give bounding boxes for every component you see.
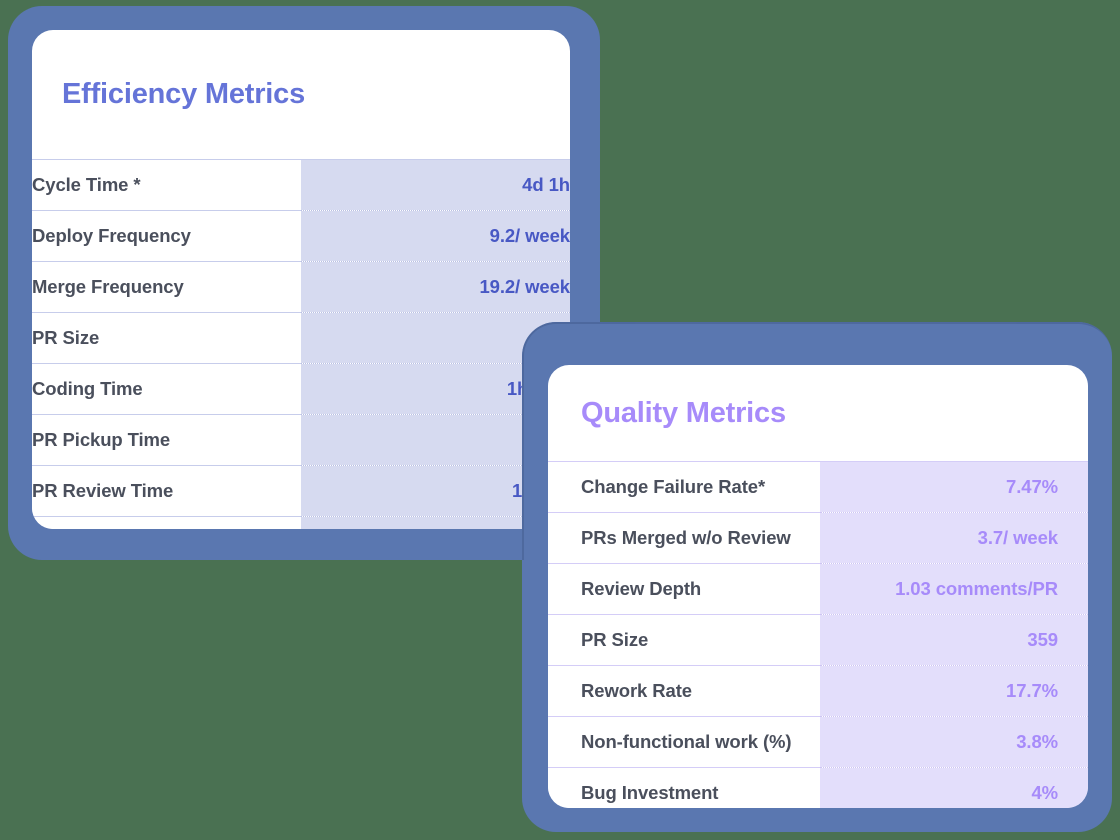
quality-card-title: Quality Metrics (581, 397, 786, 430)
metric-label: Coding Time (32, 364, 301, 415)
table-row[interactable]: Deploy Time 23h (32, 517, 570, 530)
table-row[interactable]: Cycle Time * 4d 1h (32, 160, 570, 211)
table-row[interactable]: Coding Time 1h 36m (32, 364, 570, 415)
quality-metrics-card: Quality Metrics Change Failure Rate* 7.4… (548, 365, 1088, 808)
metric-value: 17.7% (820, 666, 1088, 717)
metric-value: 3.8% (820, 717, 1088, 768)
metric-value: 3.7/ week (820, 513, 1088, 564)
metric-label: Deploy Time (32, 517, 301, 530)
table-row[interactable]: Merge Frequency 19.2/ week (32, 262, 570, 313)
metric-value: 19.2/ week (301, 262, 570, 313)
metric-label: Deploy Frequency (32, 211, 301, 262)
quality-metrics-table: Change Failure Rate* 7.47% PRs Merged w/… (548, 461, 1088, 808)
metric-value: 4% (820, 768, 1088, 809)
metric-label: PR Pickup Time (32, 415, 301, 466)
table-row[interactable]: Deploy Frequency 9.2/ week (32, 211, 570, 262)
efficiency-metrics-table: Cycle Time * 4d 1h Deploy Frequency 9.2/… (32, 159, 570, 529)
table-row[interactable]: Review Depth 1.03 comments/PR (548, 564, 1088, 615)
table-row[interactable]: PR Pickup Time 2d 5h (32, 415, 570, 466)
table-row[interactable]: Change Failure Rate* 7.47% (548, 462, 1088, 513)
metrics-dashboard: Efficiency Metrics Cycle Time * 4d 1h De… (0, 0, 1120, 840)
metric-value: 4d 1h (301, 160, 570, 211)
metric-value: 7.47% (820, 462, 1088, 513)
metric-label: PR Size (548, 615, 820, 666)
table-row[interactable]: Non-functional work (%) 3.8% (548, 717, 1088, 768)
metric-value: 9.2/ week (301, 211, 570, 262)
table-row[interactable]: PR Size 359 (32, 313, 570, 364)
metric-label: Rework Rate (548, 666, 820, 717)
metric-label: Merge Frequency (32, 262, 301, 313)
metric-label: Non-functional work (%) (548, 717, 820, 768)
metric-label: Review Depth (548, 564, 820, 615)
metric-label: PR Review Time (32, 466, 301, 517)
table-row[interactable]: PRs Merged w/o Review 3.7/ week (548, 513, 1088, 564)
metric-label: Bug Investment (548, 768, 820, 809)
metric-label: PRs Merged w/o Review (548, 513, 820, 564)
efficiency-metrics-card: Efficiency Metrics Cycle Time * 4d 1h De… (32, 30, 570, 529)
table-row[interactable]: PR Review Time 1d 19h (32, 466, 570, 517)
table-row[interactable]: PR Size 359 (548, 615, 1088, 666)
metric-label: Cycle Time * (32, 160, 301, 211)
table-row[interactable]: Rework Rate 17.7% (548, 666, 1088, 717)
efficiency-card-title: Efficiency Metrics (62, 78, 305, 111)
table-row[interactable]: Bug Investment 4% (548, 768, 1088, 809)
metric-value: 1.03 comments/PR (820, 564, 1088, 615)
metric-value: 359 (820, 615, 1088, 666)
metric-label: Change Failure Rate* (548, 462, 820, 513)
metric-label: PR Size (32, 313, 301, 364)
